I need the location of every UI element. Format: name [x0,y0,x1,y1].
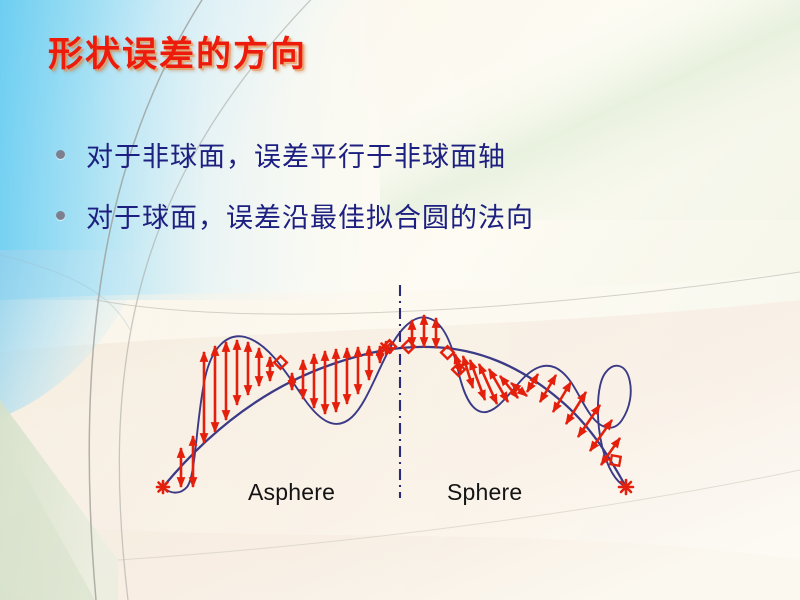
slide: 形状误差的方向 对于非球面，误差平行于非球面轴 对于球面，误差沿最佳拟合圆的法向 [0,0,800,600]
sphere-normal-arrows [455,354,620,465]
figure-label-sphere: Sphere [447,479,522,506]
error-curve [163,317,631,492]
form-error-direction-diagram [0,0,800,600]
asphere-error-arrows [181,340,380,487]
figure-label-asphere: Asphere [248,479,335,506]
endpoint-star-markers [157,342,633,494]
